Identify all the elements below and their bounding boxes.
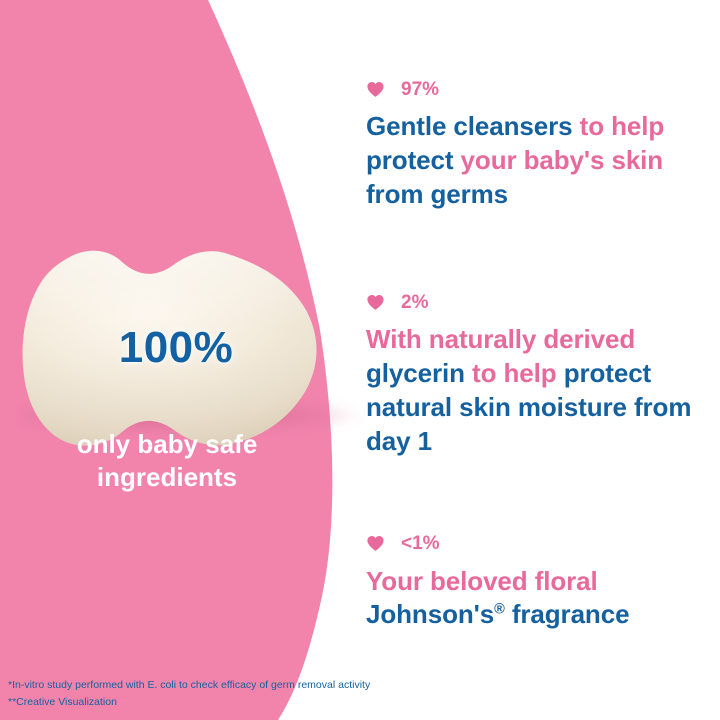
claim-segment: protect <box>366 145 461 175</box>
claim-text: With naturally derived glycerin to help … <box>366 323 710 458</box>
infographic-canvas: 100% only baby safe ingredients 97% Gent… <box>0 0 720 720</box>
claim-segment: Your beloved floral <box>366 566 598 596</box>
claim-segment: Johnson's <box>366 599 494 629</box>
claim-segment: Gentle cleansers <box>366 111 580 141</box>
claim-percentage: 97% <box>401 80 439 99</box>
footnotes: *In-vitro study performed with E. coli t… <box>8 677 708 710</box>
claim-text: Gentle cleansers to help protect your ba… <box>366 110 710 211</box>
footnote-line-1: *In-vitro study performed with E. coli t… <box>8 677 708 693</box>
soap-caption-line-2: ingredients <box>16 461 318 494</box>
claim-segment: fragrance <box>505 599 630 629</box>
claim-segment: glycerin <box>366 358 472 388</box>
claim-floral-fragrance: <1% Your beloved floral Johnson's® fragr… <box>366 531 710 633</box>
soap-caption-line-1: only baby safe <box>16 428 318 461</box>
claim-percentage: <1% <box>401 534 440 553</box>
claim-segment: to help <box>472 358 564 388</box>
heart-icon <box>366 80 385 99</box>
claims-list: 97% Gentle cleansers to help protect you… <box>366 76 710 632</box>
claim-segment: to help <box>580 111 665 141</box>
claim-percentage: 2% <box>401 293 428 312</box>
heart-icon <box>366 534 385 553</box>
claim-gentle-cleansers: 97% Gentle cleansers to help protect you… <box>366 76 710 211</box>
claim-segment: With naturally derived <box>366 324 635 354</box>
claim-header: 97% <box>366 76 710 102</box>
claim-segment: from germs <box>366 179 508 209</box>
claim-header: <1% <box>366 531 710 557</box>
footnote-line-2: **Creative Visualization <box>8 694 708 710</box>
soap-percentage-badge: 100% <box>22 248 322 448</box>
soap-bar-product: 100% <box>22 248 322 448</box>
claim-text: Your beloved floral Johnson's® fragrance <box>366 565 710 633</box>
claim-segment: your baby's skin <box>461 145 664 175</box>
registered-trademark-mark: ® <box>494 602 505 618</box>
claim-header: 2% <box>366 289 710 315</box>
soap-caption: only baby safe ingredients <box>16 428 318 493</box>
heart-icon <box>366 293 385 312</box>
claim-glycerin-moisture: 2% With naturally derived glycerin to he… <box>366 289 710 458</box>
